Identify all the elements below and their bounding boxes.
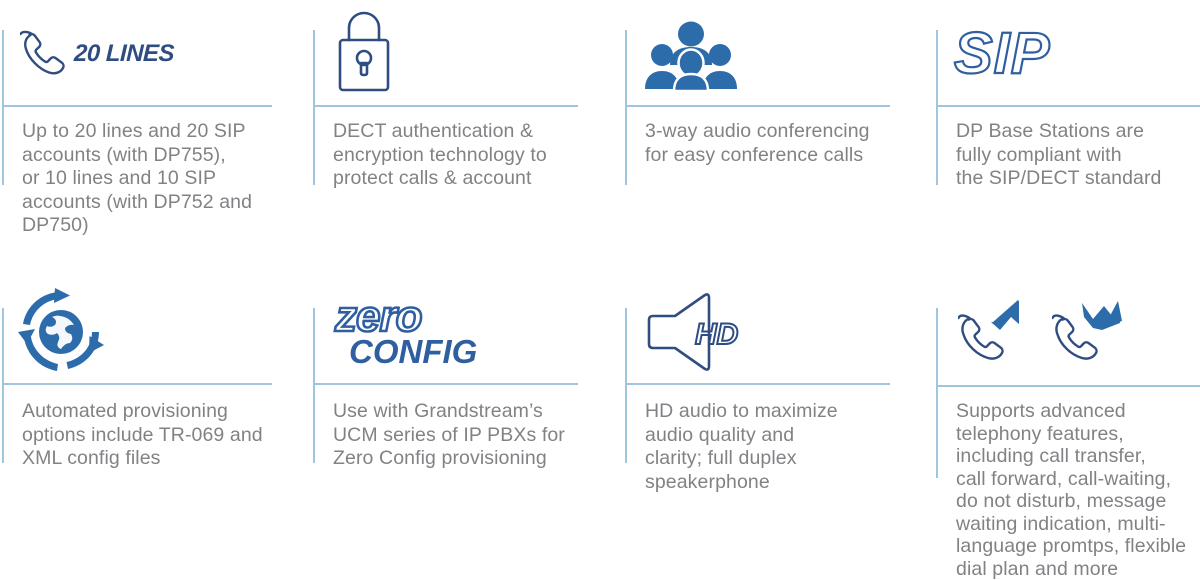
call-forward-icon [1052,297,1124,367]
feature-description: Up to 20 lines and 20 SIP accounts (with… [22,120,292,238]
zero-config-wordmark-icon: zero CONFIG [335,295,477,368]
config-wordmark: CONFIG [349,335,477,368]
feature-description: Automated provisioning options include T… [22,400,297,471]
feature-card-conferencing: 3-way audio conferencing for easy confer… [625,0,935,270]
feature-card-hd-audio: HD HD audio to maximize audio quality an… [625,278,935,559]
phone-handset-icon [20,29,66,79]
card-vertical-rule [625,30,627,185]
feature-description: DP Base Stations are fully compliant wit… [956,120,1200,191]
padlock-icon [331,11,397,97]
speaker-hd-icon: HD [643,292,763,372]
zero-config-icon-area: zero CONFIG [335,278,477,385]
hd-wordmark: HD [695,320,738,350]
hd-audio-icon-area: HD [643,278,763,385]
conferencing-icon-area [643,0,739,107]
feature-card-zero-config: zero CONFIG Use with Grandstream’s UCM s… [313,278,623,559]
provisioning-icon-area [14,278,108,385]
sip-wordmark-icon: SIP [954,25,1051,83]
card-vertical-rule [936,308,938,478]
feature-card-sip-compliance: SIP DP Base Stations are fully compliant… [936,0,1200,270]
feature-description: 3-way audio conferencing for easy confer… [645,120,915,167]
globe-sync-arrows-icon [14,286,108,378]
feature-description: Use with Grandstream’s UCM series of IP … [333,400,608,471]
card-vertical-rule [313,30,315,185]
call-transfer-icon [958,297,1030,367]
feature-card-telephony-features: Supports advanced telephony features, in… [936,278,1200,559]
feature-description: HD audio to maximize audio quality and c… [645,400,915,494]
feature-card-twenty-lines: 20 LINES Up to 20 lines and 20 SIP accou… [2,0,312,270]
three-people-conference-icon [643,15,739,93]
feature-description: Supports advanced telephony features, in… [956,400,1200,580]
feature-card-provisioning: Automated provisioning options include T… [2,278,312,559]
card-vertical-rule [2,30,4,185]
card-vertical-rule [625,308,627,463]
card-vertical-rule [2,308,4,463]
twenty-lines-wordmark: 20 LINES [74,42,175,66]
feature-grid: 20 LINES Up to 20 lines and 20 SIP accou… [0,0,1200,559]
feature-description: DECT authentication & encryption technol… [333,120,608,191]
dect-security-icon-area [331,0,397,107]
card-vertical-rule [936,30,938,185]
card-horizontal-rule [936,385,1200,387]
twenty-lines-icon-area: 20 LINES [20,0,174,107]
feature-card-dect-security: DECT authentication & encryption technol… [313,0,623,270]
sip-icon-area: SIP [954,0,1051,107]
telephony-icon-area [958,278,1124,385]
card-vertical-rule [313,308,315,463]
